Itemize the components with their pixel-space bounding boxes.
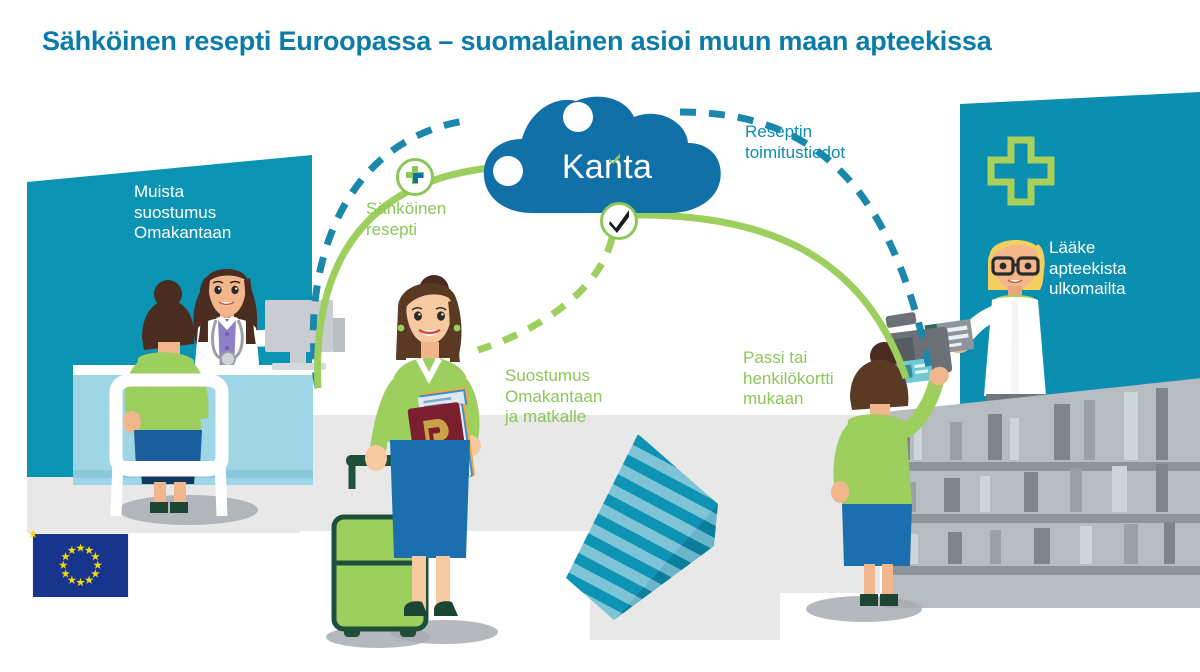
label-suostumus-omakantaan-ja-matkalle: Suostumus Omakantaan ja matkalle [505, 366, 602, 428]
label-reseptin-toimitustiedot: Reseptin toimitustiedot [745, 122, 845, 163]
kanta-wordmark: Kanta [537, 148, 677, 187]
label-muista-suostumus-omakantaan: Muista suostumus Omakantaan [134, 182, 231, 244]
infographic-canvas: Sähköinen resepti Euroopassa – suomalain… [0, 0, 1200, 672]
label-sahkoinen-resepti: Sähköinen resepti [366, 199, 446, 240]
prescription-cross-icon [396, 158, 434, 196]
flow-consent-to-traveler [478, 238, 612, 350]
check-mark-icon [600, 202, 638, 240]
flow-patient-data-dashed [313, 120, 470, 388]
label-passi-tai-henkilokortti-mukaan: Passi tai henkilökortti mukaan [743, 348, 834, 410]
kanta-accent-mark [608, 152, 621, 165]
label-laake-apteekista-ulkomailta: Lääke apteekista ulkomailta [1049, 238, 1127, 300]
